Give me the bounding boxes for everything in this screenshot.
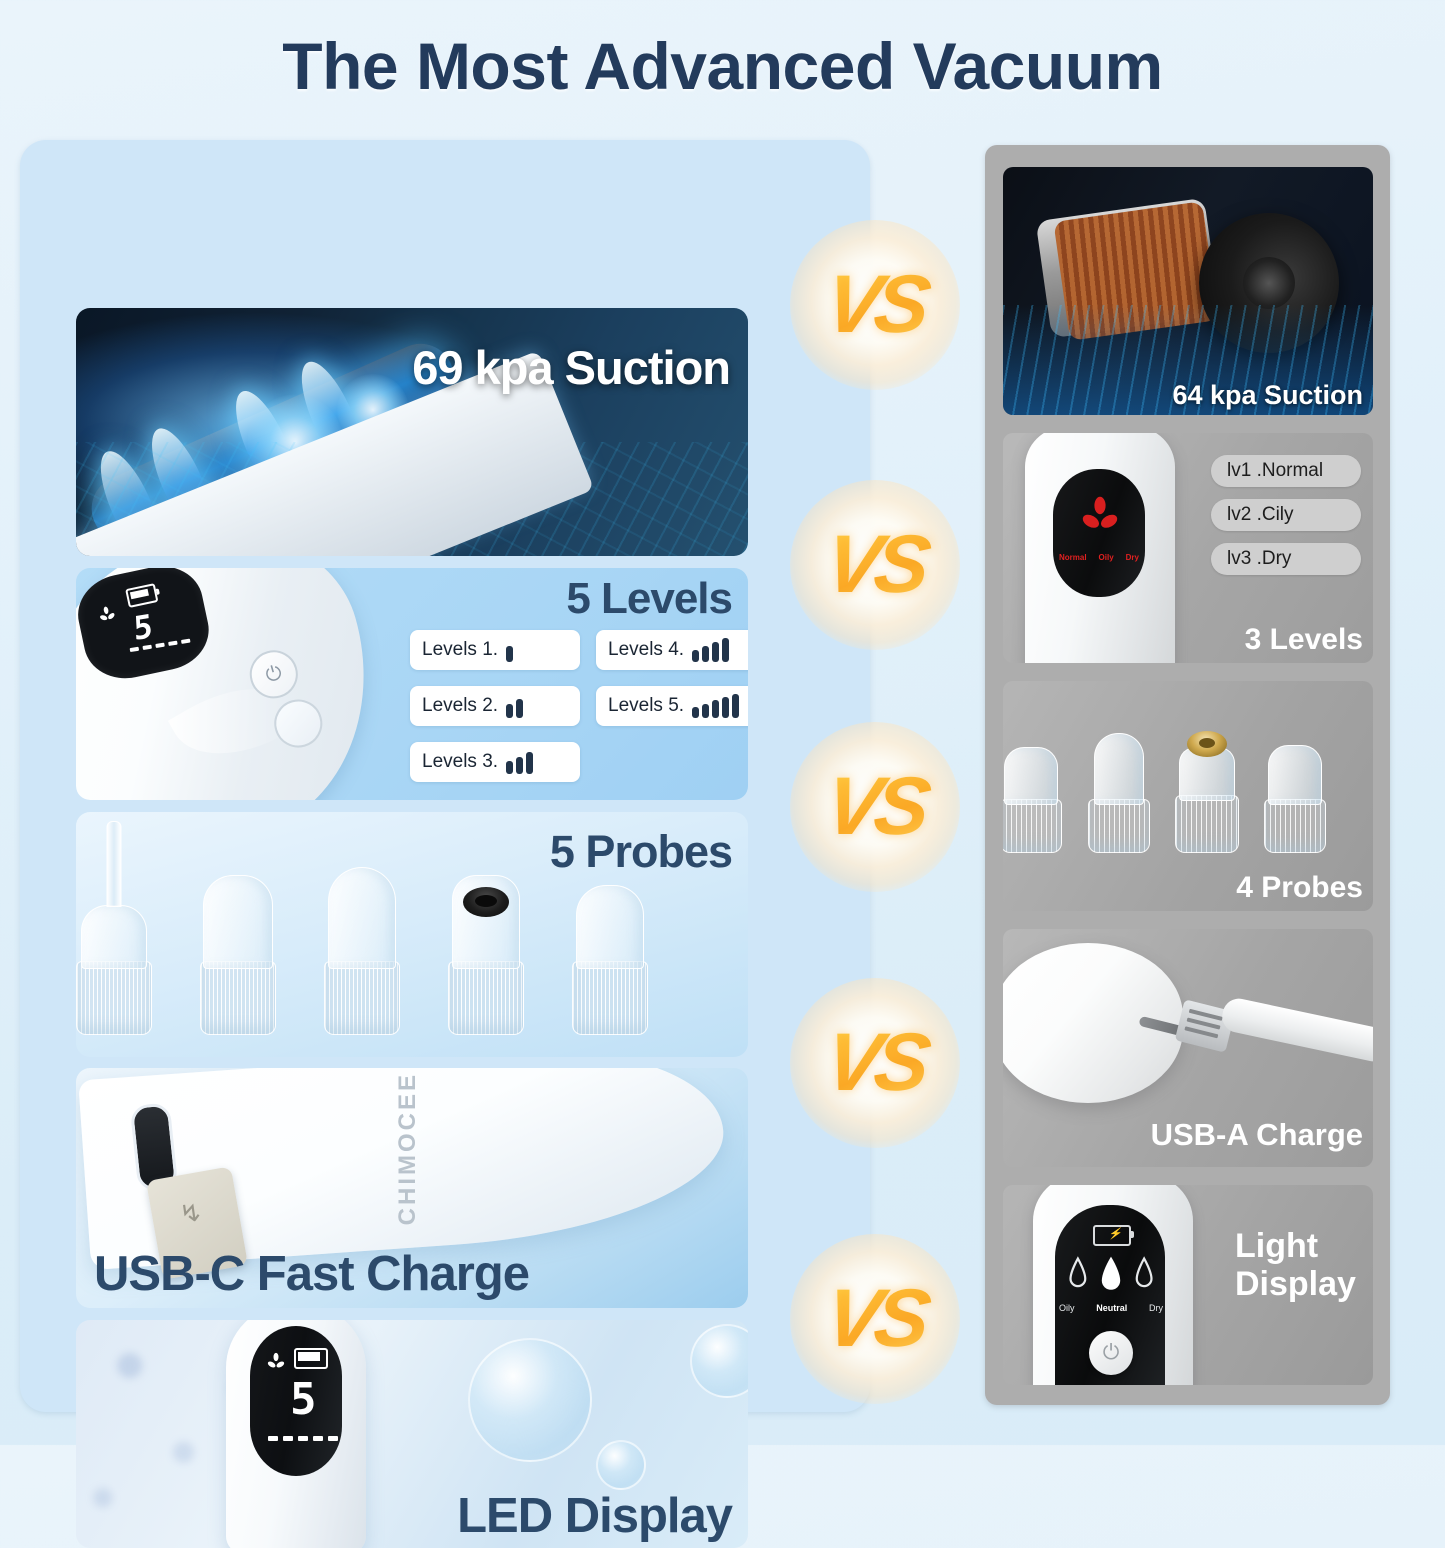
left-levels-title: 5 Levels — [566, 574, 732, 624]
left-display-title: LED Display — [457, 1488, 732, 1544]
panel-right-charge: USB-A Charge — [1003, 929, 1373, 1167]
panel-right-levels: Normal Oily Dry lv1 .Normal lv2 .Cily lv… — [1003, 433, 1373, 663]
right-display-title-line2: Display — [1235, 1265, 1356, 1303]
right-levels-title: 3 Levels — [1245, 623, 1363, 657]
level-badge-group: lv1 .Normal lv2 .Cily lv3 .Dry — [1211, 455, 1361, 587]
level-bars — [506, 694, 523, 718]
level-bars — [692, 638, 729, 662]
right-suction-label: 64 kpa Suction — [1172, 380, 1363, 411]
usb-icon: ↯ — [176, 1195, 206, 1231]
mode-label-neutral: Neutral — [1096, 1303, 1127, 1313]
level-badge-label: Levels 4. — [608, 639, 684, 661]
fan-icon — [96, 604, 117, 625]
level-bars — [506, 750, 533, 774]
left-product-column: 69 kpa Suction 5 ⏻ — [20, 140, 870, 1412]
device-handle: 5 — [226, 1320, 366, 1548]
screen-mode-normal: Normal — [1059, 553, 1087, 562]
fan-icon — [1079, 495, 1121, 537]
page-title: The Most Advanced Vacuum — [0, 28, 1445, 104]
vs-badge: VS — [790, 220, 960, 390]
level-digit: 5 — [133, 607, 154, 648]
level-badge-label: Levels 5. — [608, 695, 684, 717]
panel-right-probes: 4 Probes — [1003, 681, 1373, 911]
led-screen: 5 — [250, 1326, 342, 1476]
level-badge: lv3 .Dry — [1211, 543, 1361, 575]
vs-badge-column: VS VS VS VS VS — [780, 140, 970, 1412]
panel-left-probes: 5 Probes — [76, 812, 748, 1057]
right-product-column: 64 kpa Suction Normal Oily Dry — [985, 145, 1390, 1405]
bubble — [596, 1440, 646, 1490]
panel-left-display: 5 LED Display — [76, 1320, 748, 1548]
battery-icon — [294, 1348, 328, 1369]
usb-cable — [1219, 996, 1373, 1065]
level-badge: Levels 2. — [410, 686, 580, 726]
level-digit: 5 — [290, 1374, 317, 1425]
gold-tip — [1187, 731, 1227, 757]
battery-charging-icon: ⚡ — [1093, 1225, 1131, 1246]
battery-icon — [125, 583, 158, 608]
device-handle: Normal Oily Dry — [1025, 433, 1175, 663]
panel-left-suction: 69 kpa Suction — [76, 308, 748, 556]
level-badge: Levels 1. — [410, 630, 580, 670]
power-button[interactable]: ⏻ — [1089, 1331, 1133, 1375]
panel-left-charge: ↯ CHIMOCEE USB-C Fast Charge — [76, 1068, 748, 1308]
vs-badge: VS — [790, 480, 960, 650]
screen-mode-labels: Normal Oily Dry — [1059, 553, 1139, 562]
level-badge-label: Levels 3. — [422, 751, 498, 773]
black-ring-tip — [463, 887, 509, 917]
vs-label: VS — [778, 978, 972, 1148]
device-handle: 5 ⏻ — [76, 568, 405, 800]
level-bars — [506, 638, 513, 662]
panel-left-levels: 5 ⏻ 5 Levels Levels 1. Levels 2. Levels … — [76, 568, 748, 800]
brand-logo: CHIMOCEE — [394, 1072, 422, 1225]
left-suction-label: 69 kpa Suction — [412, 340, 730, 395]
left-charge-title: USB-C Fast Charge — [94, 1246, 529, 1302]
level-badge: lv2 .Cily — [1211, 499, 1361, 531]
vs-label: VS — [778, 722, 972, 892]
mode-labels: Oily Neutral Dry — [1059, 1303, 1163, 1313]
level-badge: Levels 4. — [596, 630, 748, 670]
oled-screen: 5 — [76, 568, 216, 686]
vs-label: VS — [778, 480, 972, 650]
led-screen: Normal Oily Dry — [1053, 469, 1145, 597]
panel-right-suction: 64 kpa Suction — [1003, 167, 1373, 415]
right-display-title-line1: Light — [1235, 1227, 1318, 1265]
needle-tip — [107, 821, 122, 907]
light-display-screen: ⚡ Oily Neutral Dry ⏻ — [1055, 1205, 1165, 1385]
device-handle: ⚡ Oily Neutral Dry ⏻ — [1033, 1185, 1193, 1385]
level-badge: lv1 .Normal — [1211, 455, 1361, 487]
screen-mode-dry: Dry — [1126, 553, 1139, 562]
skin-type-droplet-icons — [1065, 1253, 1157, 1299]
level-dashes — [268, 1436, 338, 1441]
right-probes-title: 4 Probes — [1236, 871, 1363, 905]
level-badge-label: Levels 2. — [422, 695, 498, 717]
vs-badge: VS — [790, 722, 960, 892]
level-badge-label: Levels 1. — [422, 639, 498, 661]
mode-label-dry: Dry — [1149, 1303, 1163, 1313]
bubble — [468, 1338, 592, 1462]
vs-badge: VS — [790, 1234, 960, 1404]
level-badge: Levels 5. — [596, 686, 748, 726]
vs-badge: VS — [790, 978, 960, 1148]
mode-label-oily: Oily — [1059, 1303, 1075, 1313]
right-charge-title: USB-A Charge — [1151, 1117, 1363, 1153]
vs-label: VS — [778, 220, 972, 390]
level-badge: Levels 3. — [410, 742, 580, 782]
level-bars — [692, 694, 739, 718]
fan-icon — [266, 1352, 286, 1372]
screen-mode-oily: Oily — [1099, 553, 1114, 562]
vs-label: VS — [778, 1234, 972, 1404]
left-probes-title: 5 Probes — [550, 826, 732, 878]
right-display-title: Light Display — [1235, 1227, 1365, 1303]
panel-right-display: ⚡ Oily Neutral Dry ⏻ Light Display — [1003, 1185, 1373, 1385]
